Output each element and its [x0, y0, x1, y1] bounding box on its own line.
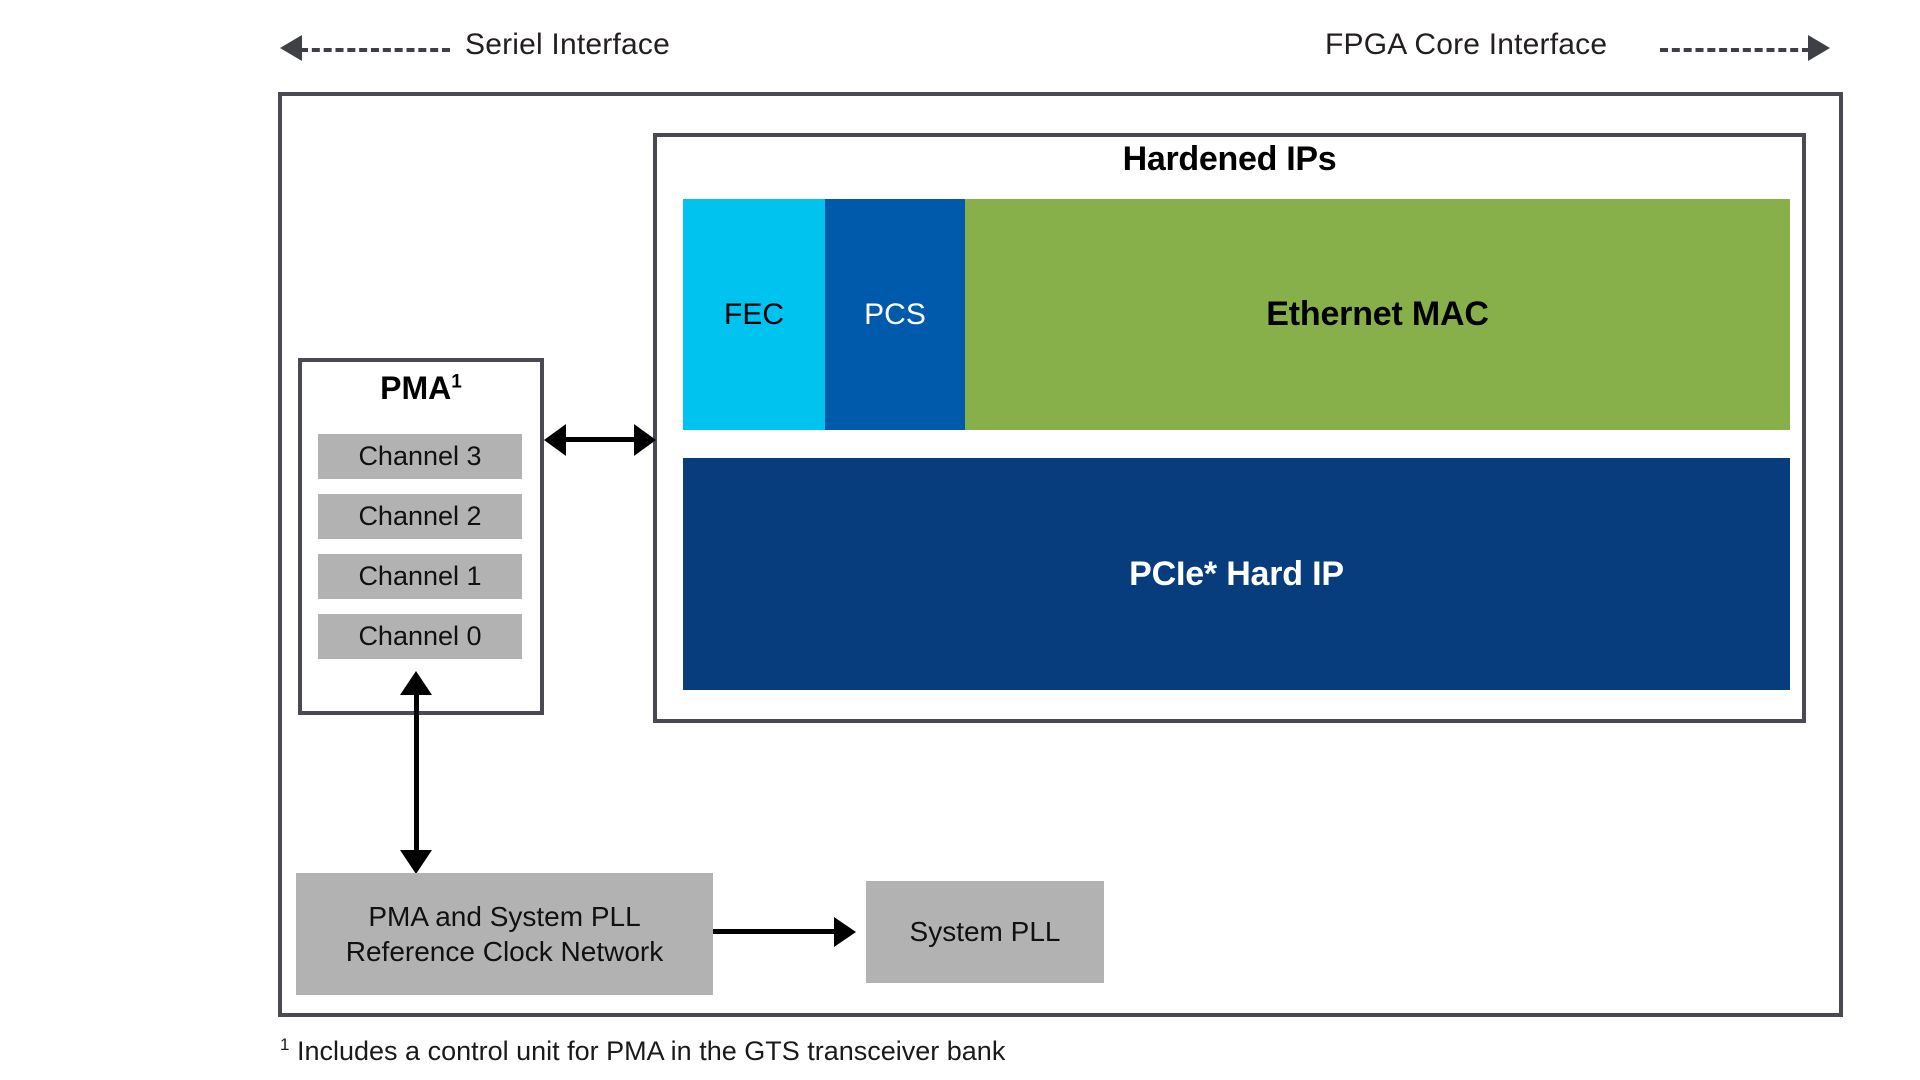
reference-clock-to-system-pll-arrowhead-icon: [834, 917, 856, 947]
reference-clock-network-block: PMA and System PLL Reference Clock Netwo…: [296, 873, 713, 995]
fec-block: FEC: [683, 199, 825, 430]
footnote-marker: 1: [280, 1035, 289, 1054]
footnote-text: Includes a control unit for PMA in the G…: [297, 1036, 1005, 1066]
pcs-block-label: PCS: [864, 298, 926, 332]
hardened-ips-title: Hardened IPs: [653, 140, 1806, 179]
pma-channel-3: Channel 3: [318, 434, 522, 479]
pma-channel-0-label: Channel 0: [358, 621, 481, 652]
fpga-core-interface-label: FPGA Core Interface: [1325, 28, 1607, 62]
pma-to-reference-clock-connector: [414, 690, 419, 856]
ethernet-mac-block-label: Ethernet MAC: [1266, 295, 1488, 334]
pma-footnote-marker: 1: [451, 371, 462, 392]
fec-block-label: FEC: [724, 298, 784, 332]
ethernet-mac-block: Ethernet MAC: [965, 199, 1790, 430]
pcie-hard-ip-block: PCIe* Hard IP: [683, 458, 1790, 690]
pma-channel-0: Channel 0: [318, 614, 522, 659]
pma-channel-2-label: Channel 2: [358, 501, 481, 532]
pcie-hard-ip-block-label: PCIe* Hard IP: [1129, 555, 1344, 594]
pma-channel-3-label: Channel 3: [358, 441, 481, 472]
diagram-canvas: Seriel Interface FPGA Core Interface Har…: [0, 0, 1920, 1080]
pcs-block: PCS: [825, 199, 965, 430]
fpga-core-interface-arrowhead-icon: [1808, 35, 1830, 61]
fpga-core-interface-dashed-line: [1660, 48, 1810, 52]
seriel-interface-label: Seriel Interface: [465, 28, 670, 62]
pma-to-reference-clock-down-arrowhead-icon: [400, 850, 432, 874]
footnote: 1 Includes a control unit for PMA in the…: [280, 1035, 1005, 1067]
pma-title: PMA1: [298, 370, 544, 407]
pma-to-hardened-ips-right-arrowhead-icon: [634, 424, 656, 456]
system-pll-label: System PLL: [910, 916, 1061, 948]
pma-channel-2: Channel 2: [318, 494, 522, 539]
system-pll-block: System PLL: [866, 881, 1104, 983]
pma-to-hardened-ips-connector: [562, 437, 638, 442]
reference-clock-network-label-line2: Reference Clock Network: [346, 934, 663, 969]
reference-clock-to-system-pll-connector: [713, 929, 837, 934]
pma-title-text: PMA: [380, 370, 451, 406]
seriel-interface-arrowhead-icon: [280, 35, 302, 61]
pma-channel-1: Channel 1: [318, 554, 522, 599]
pma-channel-1-label: Channel 1: [358, 561, 481, 592]
reference-clock-network-label-line1: PMA and System PLL: [368, 899, 640, 934]
seriel-interface-dashed-line: [300, 48, 450, 52]
